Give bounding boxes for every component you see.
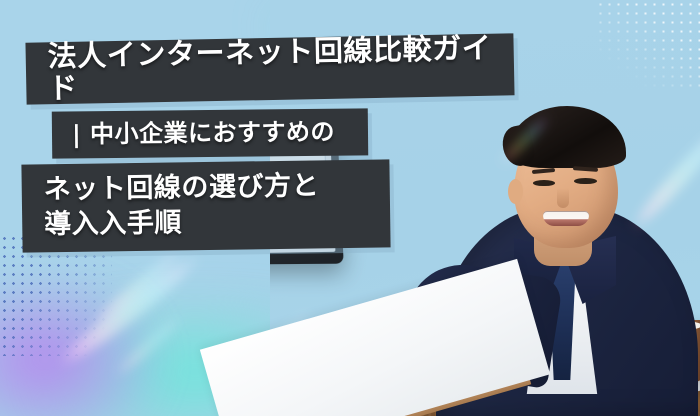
banner-image: 法人インターネット回線比較ガイド | 中小企業におすすめの ネット回線の選び方と… xyxy=(0,0,700,416)
headline-block-1: 法人インターネット回線比較ガイド xyxy=(25,33,514,104)
headline-text-1: 法人インターネット回線比較ガイド xyxy=(47,33,492,105)
dot-grid-top-right xyxy=(596,0,700,92)
headline-block-3: ネット回線の選び方と 導入入手順 xyxy=(21,159,390,252)
headline-group: 法人インターネット回線比較ガイド | 中小企業におすすめの ネット回線の選び方と… xyxy=(0,0,560,290)
headline-text-2: | 中小企業におすすめの xyxy=(72,119,335,148)
headline-text-3: ネット回線の選び方と 導入入手順 xyxy=(44,170,320,243)
headline-block-2: | 中小企業におすすめの xyxy=(52,108,368,158)
eye-right xyxy=(574,178,597,184)
